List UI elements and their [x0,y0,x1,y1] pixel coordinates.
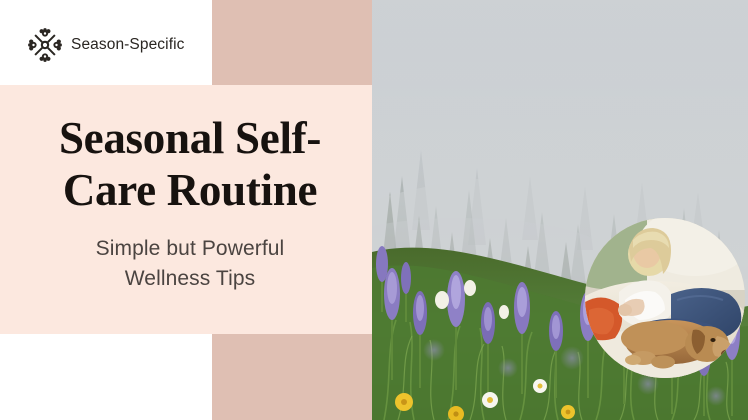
white-bottom-panel [0,334,212,420]
floral-quatrefoil-emblem-icon [28,28,62,62]
woman-with-dog-graphic [585,218,745,378]
headline-text: Seasonal Self- Care Routine [40,112,340,216]
inset-photo-circle [585,218,745,378]
promotional-banner: Season-Specific Seasonal Self- Care Rout… [0,0,748,420]
brand-logo-lockup[interactable]: Season-Specific [28,28,185,62]
subheadline-text: Simple but Powerful Wellness Tips [40,234,340,294]
banner-text-block: Seasonal Self- Care Routine Simple but P… [40,112,340,294]
brand-name-label: Season-Specific [71,36,185,54]
